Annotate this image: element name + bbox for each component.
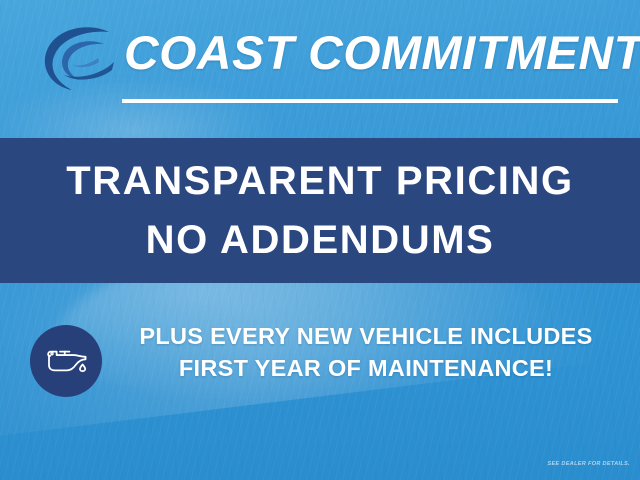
promo-line-2: FIRST YEAR OF MAINTENANCE! <box>110 352 622 384</box>
banner-header: COAST COMMITMENT <box>0 0 640 138</box>
coast-wave-logo-icon <box>36 22 122 96</box>
oil-can-icon <box>30 325 102 397</box>
coast-commitment-banner: COAST COMMITMENT TRANSPARENT PRICING NO … <box>0 0 640 480</box>
header-divider <box>122 99 618 103</box>
headline-line-1: TRANSPARENT PRICING <box>66 161 573 201</box>
disclaimer-text: SEE DEALER FOR DETAILS. <box>547 461 630 467</box>
headline-band: TRANSPARENT PRICING NO ADDENDUMS <box>0 138 640 283</box>
promo-line-1: PLUS EVERY NEW VEHICLE INCLUDES <box>110 320 622 352</box>
headline-line-2: NO ADDENDUMS <box>146 220 495 260</box>
page-title: COAST COMMITMENT <box>124 22 634 84</box>
promo-row: PLUS EVERY NEW VEHICLE INCLUDES FIRST YE… <box>0 320 640 402</box>
promo-text-block: PLUS EVERY NEW VEHICLE INCLUDES FIRST YE… <box>110 320 622 384</box>
